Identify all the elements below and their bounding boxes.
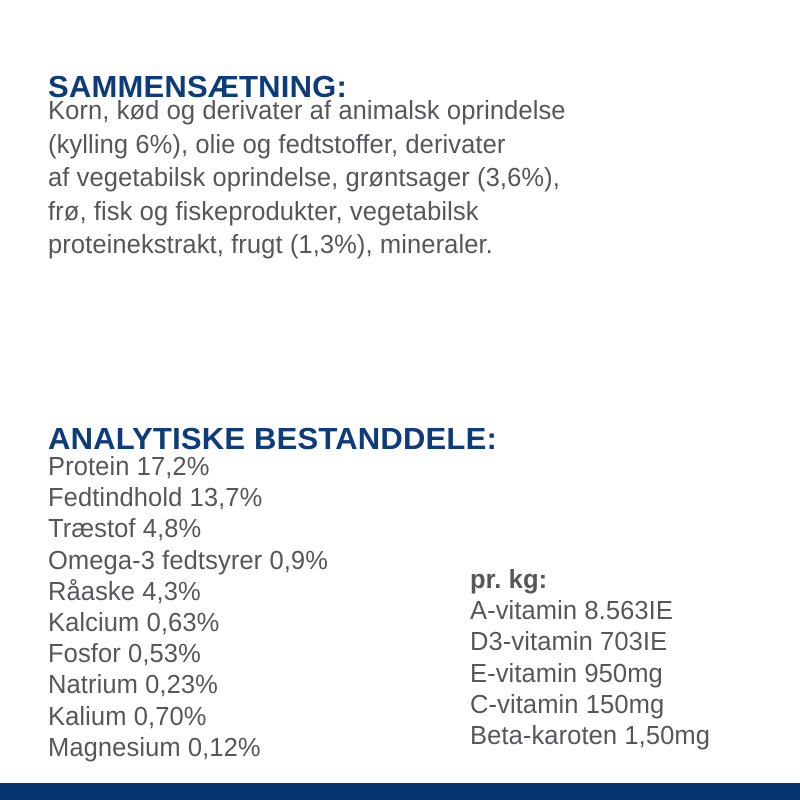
nutrient-row: Natrium 0,23% <box>48 670 448 701</box>
analytical-constituents-heading: ANALYTISKE BESTANDDELE: <box>48 422 497 456</box>
nutrient-row: Fedtindhold 13,7% <box>48 483 448 514</box>
nutrient-row: Magnesium 0,12% <box>48 733 448 764</box>
pet-food-label-sheet: SAMMENSÆTNING: Korn, kød og derivater af… <box>0 0 800 800</box>
nutrient-row: Omega-3 fedtsyrer 0,9% <box>48 546 448 577</box>
bottom-brand-bar <box>0 783 800 800</box>
vitamin-row: A-vitamin 8.563IE <box>470 596 780 627</box>
nutrient-row: Protein 17,2% <box>48 452 448 483</box>
nutrient-row: Kalium 0,70% <box>48 702 448 733</box>
nutrient-row: Kalcium 0,63% <box>48 608 448 639</box>
ingredient-line: frø, fisk og fiskeprodukter, vegetabilsk <box>48 196 708 230</box>
per-kilogram-label: pr. kg: <box>470 565 780 596</box>
ingredient-line: (kylling 6%), olie og fedtstoffer, deriv… <box>48 129 708 163</box>
constituents-column: Protein 17,2% Fedtindhold 13,7% Træstof … <box>48 452 448 764</box>
nutrient-row: Råaske 4,3% <box>48 577 448 608</box>
vitamin-row: Beta-karoten 1,50mg <box>470 721 780 752</box>
ingredient-line: af vegetabilsk oprindelse, grøntsager (3… <box>48 162 708 196</box>
analytical-constituents-block: Protein 17,2% Fedtindhold 13,7% Træstof … <box>0 452 800 752</box>
vitamin-row: D3-vitamin 703IE <box>470 627 780 658</box>
composition-ingredients-text: Korn, kød og derivater af animalsk oprin… <box>48 95 708 263</box>
vitamin-row: C-vitamin 150mg <box>470 690 780 721</box>
vitamin-row: E-vitamin 950mg <box>470 659 780 690</box>
ingredient-line: Korn, kød og derivater af animalsk oprin… <box>48 95 708 129</box>
nutrient-row: Træstof 4,8% <box>48 514 448 545</box>
vitamins-column: pr. kg: A-vitamin 8.563IE D3-vitamin 703… <box>470 565 780 752</box>
ingredient-line: proteinekstrakt, frugt (1,3%), mineraler… <box>48 229 708 263</box>
nutrient-row: Fosfor 0,53% <box>48 639 448 670</box>
